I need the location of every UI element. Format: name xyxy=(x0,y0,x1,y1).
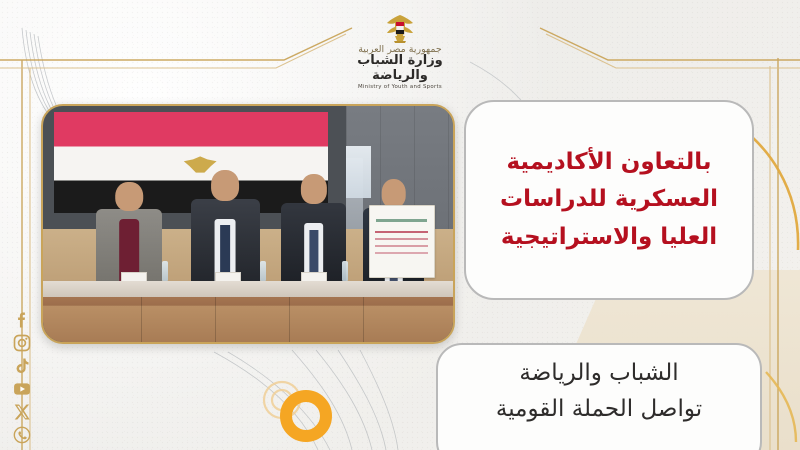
social-media-links xyxy=(9,310,35,445)
conference-photo-frame xyxy=(41,104,455,344)
instagram-icon[interactable] xyxy=(12,333,32,353)
dark-card-line-1: الشباب والرياضة xyxy=(519,355,678,391)
facebook-icon[interactable] xyxy=(12,310,32,330)
x-twitter-icon[interactable] xyxy=(12,402,32,422)
ministry-logo: جمهورية مصر العربية وزارة الشباب والرياض… xyxy=(340,14,460,90)
dark-card-line-2: تواصل الحملة القومية xyxy=(496,391,702,427)
red-card-line-3: العليا والاستراتيجية xyxy=(501,219,717,256)
campaign-headline-card: الشباب والرياضة تواصل الحملة القومية xyxy=(436,343,762,450)
conference-panel-photo xyxy=(43,106,453,342)
collaboration-text-card: بالتعاون الأكاديمية العسكرية للدراسات ال… xyxy=(464,100,754,300)
photo-person xyxy=(96,182,162,281)
poster-canvas: جمهورية مصر العربية وزارة الشباب والرياض… xyxy=(0,0,800,450)
logo-country-line: جمهورية مصر العربية xyxy=(340,45,460,55)
gold-ring-decoration xyxy=(246,370,356,450)
photo-person xyxy=(281,174,347,280)
logo-arabic-title: وزارة الشباب والرياضة xyxy=(340,54,460,83)
photo-person xyxy=(191,170,261,281)
tiktok-icon[interactable] xyxy=(12,356,32,376)
red-card-line-1: بالتعاون الأكاديمية xyxy=(506,144,711,181)
red-card-line-2: العسكرية للدراسات xyxy=(500,181,718,218)
eagle-of-saladin-icon xyxy=(384,14,416,44)
whatsapp-icon[interactable] xyxy=(12,425,32,445)
logo-english-title: Ministry of Youth and Sports xyxy=(340,84,460,90)
event-banner-poster xyxy=(369,205,435,278)
youtube-icon[interactable] xyxy=(12,379,32,399)
conference-desk xyxy=(43,281,453,342)
